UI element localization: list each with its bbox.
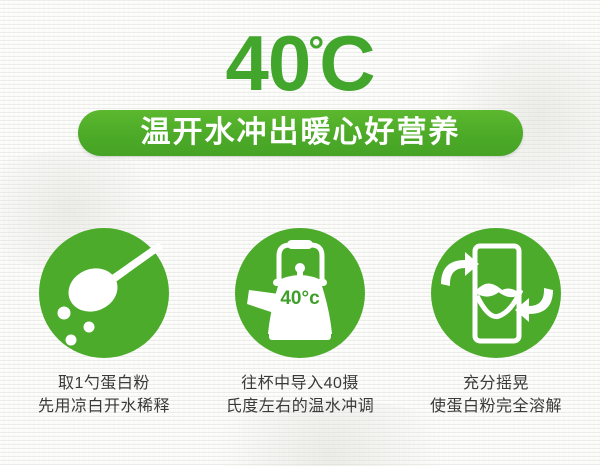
shaking-glass-icon xyxy=(431,228,561,358)
step-caption-line2: 使蛋白粉完全溶解 xyxy=(430,395,562,418)
step-item: 充分摇晃 使蛋白粉完全溶解 xyxy=(398,228,594,418)
page-title: 40°C xyxy=(0,8,600,106)
step-icon-circle xyxy=(431,228,561,358)
promo-poster: 40°C 温开水冲出暖心好营养 取1勺蛋白粉 xyxy=(0,0,600,466)
step-caption-line1: 充分摇晃 xyxy=(430,372,562,395)
headline-number: 40 xyxy=(225,19,310,107)
step-caption: 往杯中导入40摄 氏度左右的温水冲调 xyxy=(226,372,375,418)
subtitle-banner-text: 温开水冲出暖心好营养 xyxy=(141,118,461,148)
steps-row: 取1勺蛋白粉 先用凉白开水稀释 xyxy=(0,228,600,418)
step-icon-circle: 40°c xyxy=(235,228,365,358)
headline-unit: C xyxy=(319,19,374,107)
step-item: 40°c 往杯中导入40摄 氏度左右的温水冲调 xyxy=(202,228,398,418)
step-item: 取1勺蛋白粉 先用凉白开水稀释 xyxy=(6,228,202,418)
spoon-powder-icon xyxy=(39,228,169,358)
step-caption-line2: 先用凉白开水稀释 xyxy=(38,395,170,418)
step-caption-line2: 氏度左右的温水冲调 xyxy=(226,395,375,418)
kettle-temperature-label: 40°c xyxy=(235,288,365,310)
step-caption: 取1勺蛋白粉 先用凉白开水稀释 xyxy=(38,372,170,418)
step-caption: 充分摇晃 使蛋白粉完全溶解 xyxy=(430,372,562,418)
step-caption-line1: 往杯中导入40摄 xyxy=(226,372,375,395)
step-caption-line1: 取1勺蛋白粉 xyxy=(38,372,170,395)
step-icon-circle xyxy=(39,228,169,358)
subtitle-banner: 温开水冲出暖心好营养 xyxy=(78,110,523,156)
